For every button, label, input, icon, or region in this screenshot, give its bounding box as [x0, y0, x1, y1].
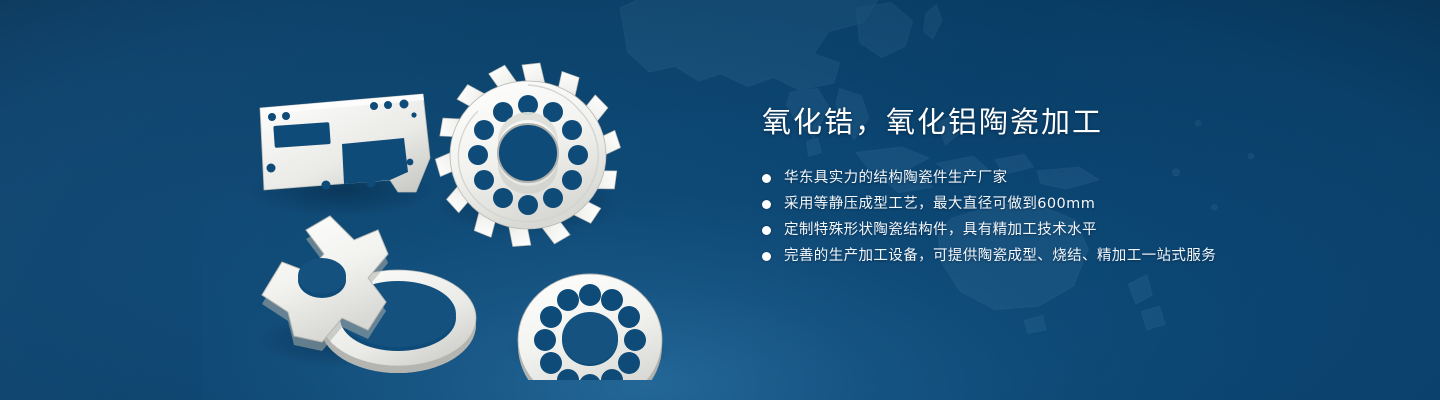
bullet-dot-icon	[762, 226, 771, 235]
banner-headline: 氧化锆，氧化铝陶瓷加工	[762, 106, 1362, 139]
feature-text: 定制特殊形状陶瓷结构件，具有精加工技术水平	[784, 221, 1097, 240]
bullet-dot-icon	[762, 252, 771, 261]
feature-text: 华东具实力的结构陶瓷件生产厂家	[784, 169, 1008, 188]
bullet-dot-icon	[762, 174, 771, 183]
bullet-dot-icon	[762, 200, 771, 209]
ceramic-plate	[260, 94, 430, 192]
promo-banner: 氧化锆，氧化铝陶瓷加工 华东具实力的结构陶瓷件生产厂家 采用等静压成型工艺，最大…	[0, 0, 1440, 400]
banner-text-block: 氧化锆，氧化铝陶瓷加工 华东具实力的结构陶瓷件生产厂家 采用等静压成型工艺，最大…	[762, 106, 1362, 273]
feature-list: 华东具实力的结构陶瓷件生产厂家 采用等静压成型工艺，最大直径可做到600mm 定…	[762, 169, 1362, 266]
ceramic-perforated-disc	[518, 274, 662, 380]
list-item: 采用等静压成型工艺，最大直径可做到600mm	[762, 195, 1362, 214]
list-item: 完善的生产加工设备，可提供陶瓷成型、烧结、精加工一站式服务	[762, 247, 1362, 266]
feature-text: 完善的生产加工设备，可提供陶瓷成型、烧结、精加工一站式服务	[784, 247, 1216, 266]
list-item: 定制特殊形状陶瓷结构件，具有精加工技术水平	[762, 221, 1362, 240]
feature-text: 采用等静压成型工艺，最大直径可做到600mm	[784, 195, 1095, 214]
ceramic-products-image	[238, 40, 708, 380]
list-item: 华东具实力的结构陶瓷件生产厂家	[762, 169, 1362, 188]
